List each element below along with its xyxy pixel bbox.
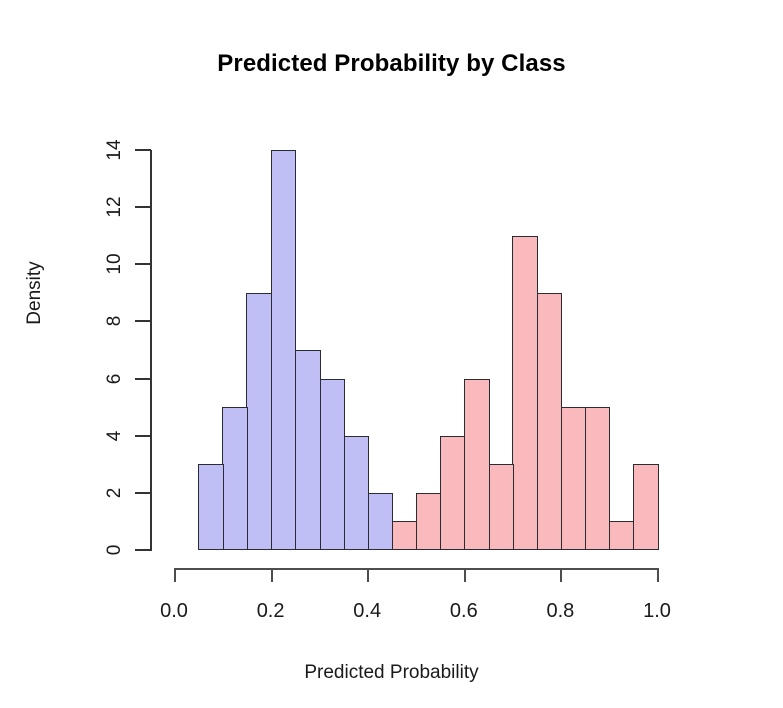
y-axis-tick-label: 4 bbox=[104, 416, 126, 456]
y-axis-tick bbox=[135, 206, 151, 208]
x-axis-tick bbox=[271, 568, 273, 582]
x-axis-tick-label: 0.2 bbox=[236, 600, 306, 623]
x-axis-title: Predicted Probability bbox=[0, 662, 783, 684]
x-axis-tick-label: 0.8 bbox=[525, 600, 595, 623]
y-axis-tick bbox=[135, 378, 151, 380]
histogram-bar bbox=[416, 493, 442, 550]
histogram-bar bbox=[198, 464, 224, 550]
histogram-bar bbox=[367, 493, 393, 550]
histogram-bar bbox=[488, 464, 514, 550]
y-axis-tick bbox=[135, 492, 151, 494]
histogram-bar bbox=[440, 436, 466, 550]
x-axis-line bbox=[174, 568, 658, 570]
y-axis-tick-label: 0 bbox=[104, 530, 126, 570]
histogram-bar bbox=[271, 150, 297, 550]
y-axis-tick bbox=[135, 549, 151, 551]
y-axis-tick bbox=[135, 149, 151, 151]
y-axis-tick-label: 14 bbox=[104, 130, 126, 170]
x-axis-tick-label: 1.0 bbox=[622, 600, 692, 623]
x-axis-tick bbox=[174, 568, 176, 582]
y-axis-tick-label: 12 bbox=[104, 187, 126, 227]
y-axis-tick bbox=[135, 435, 151, 437]
x-axis-tick bbox=[657, 568, 659, 582]
histogram-bar bbox=[464, 379, 490, 550]
histogram-bar bbox=[343, 436, 369, 550]
histogram-bar bbox=[512, 236, 538, 550]
x-axis-tick bbox=[464, 568, 466, 582]
y-axis-tick bbox=[135, 263, 151, 265]
histogram-bar bbox=[391, 521, 417, 550]
histogram-bar bbox=[536, 293, 562, 550]
histogram-bar bbox=[319, 379, 345, 550]
histogram-bar bbox=[633, 464, 659, 550]
plot-area bbox=[174, 150, 657, 550]
x-axis-tick-label: 0.4 bbox=[332, 600, 402, 623]
histogram-bar bbox=[295, 350, 321, 550]
histogram-bar bbox=[560, 407, 586, 550]
x-axis-tick bbox=[560, 568, 562, 582]
histogram-bar bbox=[222, 407, 248, 550]
y-axis-tick-label: 6 bbox=[104, 359, 126, 399]
x-axis-tick-label: 0.6 bbox=[429, 600, 499, 623]
y-axis-line bbox=[150, 150, 152, 551]
x-axis-tick bbox=[367, 568, 369, 582]
histogram-chart: Predicted Probability by Class Density P… bbox=[0, 0, 783, 708]
y-axis-title: Density bbox=[24, 223, 46, 363]
y-axis-tick-label: 8 bbox=[104, 301, 126, 341]
y-axis-tick-label: 10 bbox=[104, 244, 126, 284]
page-title: Predicted Probability by Class bbox=[0, 50, 783, 78]
histogram-bar bbox=[609, 521, 635, 550]
y-axis-tick-label: 2 bbox=[104, 473, 126, 513]
y-axis-tick bbox=[135, 320, 151, 322]
histogram-bar bbox=[585, 407, 611, 550]
histogram-bar bbox=[246, 293, 272, 550]
x-axis-tick-label: 0.0 bbox=[139, 600, 209, 623]
